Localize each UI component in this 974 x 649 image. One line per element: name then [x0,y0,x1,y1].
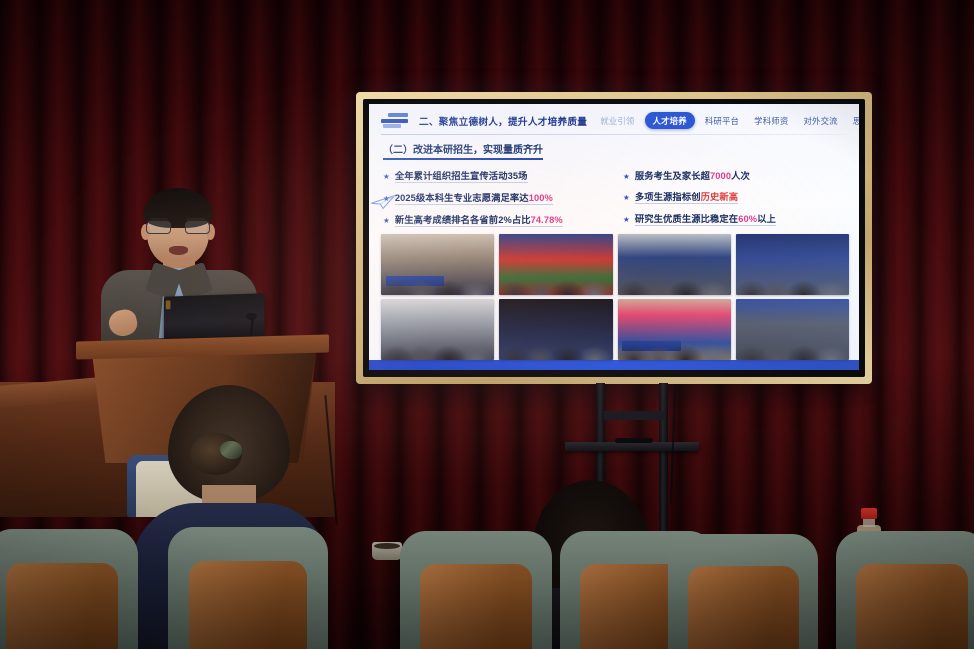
auditorium-scene: 二、聚焦立德树人，提升人才培养质量 就业引领 人才培养 科研平台 学科师资 对外… [0,0,974,649]
scene-vignette [0,0,974,649]
